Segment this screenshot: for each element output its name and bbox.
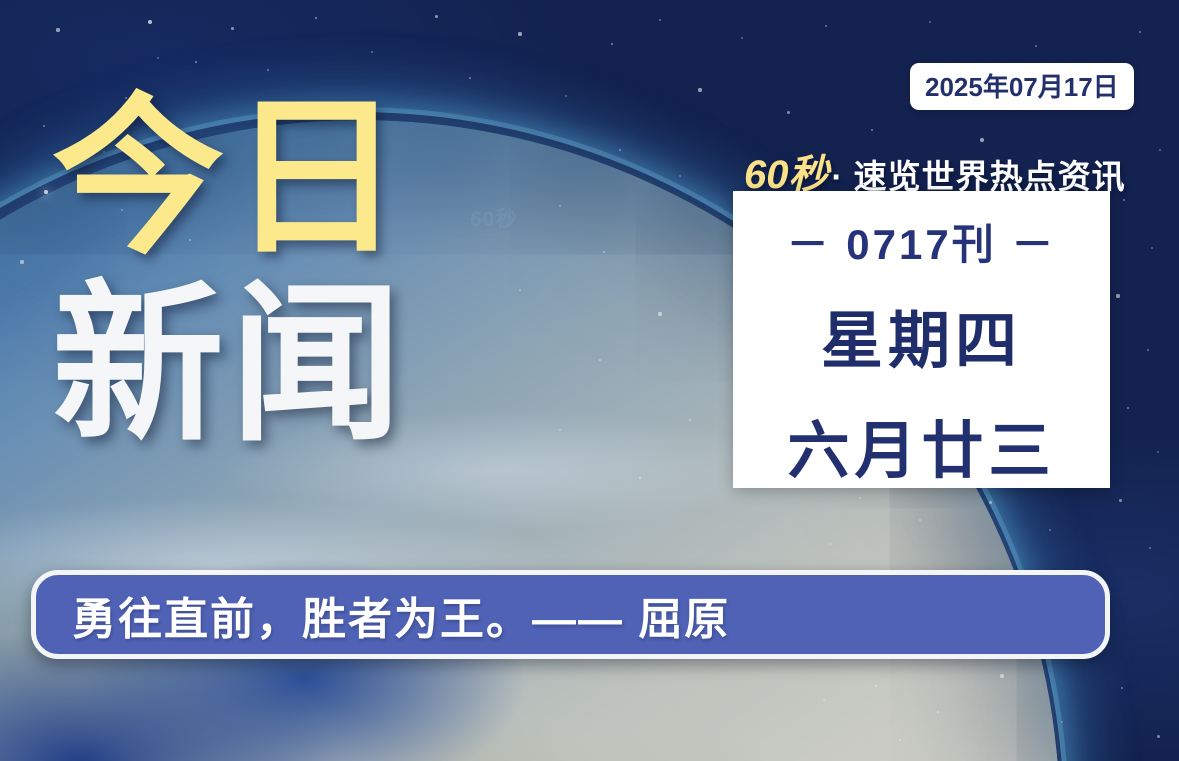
quote-text: 勇往直前，胜者为王。—— 屈原 [72, 583, 730, 647]
quote-bar: 勇往直前，胜者为王。—— 屈原 [31, 570, 1110, 659]
lunar-date-label: 六月廿三 [787, 400, 1055, 490]
tagline-rest: · 速览世界热点资讯 [832, 158, 1126, 195]
issue-number: － 0717刊 － [787, 211, 1057, 272]
title-line-news: 新闻 [52, 283, 408, 448]
news-poster: 60秒 今日 新闻 2025年07月17日 60秒· 速览世界热点资讯 － 07… [0, 0, 1179, 761]
issue-info-card: － 0717刊 － 星期四 六月廿三 [733, 191, 1110, 488]
page-title: 今日 新闻 [52, 96, 408, 448]
title-line-today: 今日 [52, 96, 408, 261]
weekday-label: 星期四 [821, 290, 1022, 380]
date-badge: 2025年07月17日 [910, 63, 1134, 110]
